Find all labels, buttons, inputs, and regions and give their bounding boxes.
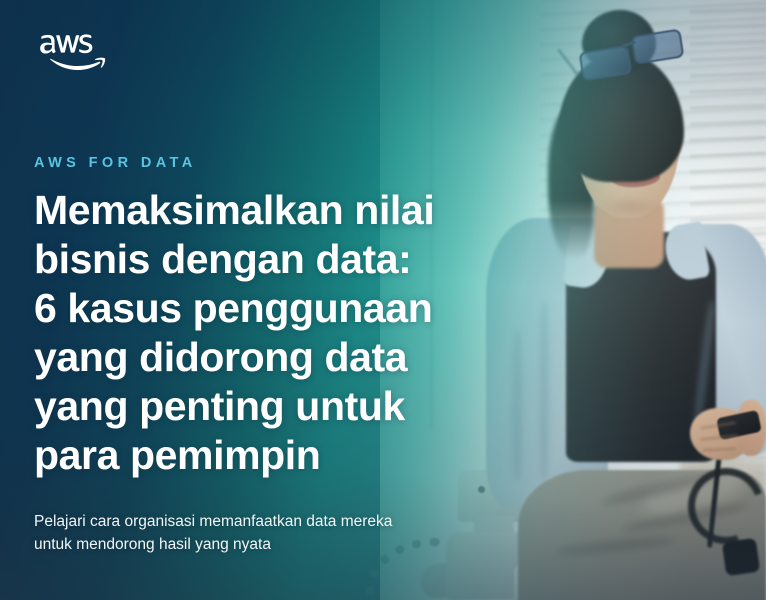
headline-line: yang didorong data	[34, 333, 434, 382]
aws-hero-banner: AWS FOR DATA Memaksimalkan nilai bisnis …	[0, 0, 766, 600]
subtitle-line: untuk mendorong hasil yang nyata	[34, 533, 392, 556]
headline-line: yang penting untuk	[34, 382, 434, 431]
headline-line: para pemimpin	[34, 431, 434, 480]
headline-line: 6 kasus penggunaan	[34, 284, 434, 333]
subtitle-line: Pelajari cara organisasi memanfaatkan da…	[34, 510, 392, 533]
hero-content: AWS FOR DATA Memaksimalkan nilai bisnis …	[34, 0, 504, 600]
page-subtitle: Pelajari cara organisasi memanfaatkan da…	[34, 510, 392, 556]
headline-line: bisnis dengan data:	[34, 235, 434, 284]
eyebrow-label: AWS FOR DATA	[34, 155, 197, 171]
headline-line: Memaksimalkan nilai	[34, 186, 434, 235]
page-title: Memaksimalkan nilai bisnis dengan data: …	[34, 186, 434, 480]
aws-logo-icon[interactable]	[40, 32, 106, 74]
